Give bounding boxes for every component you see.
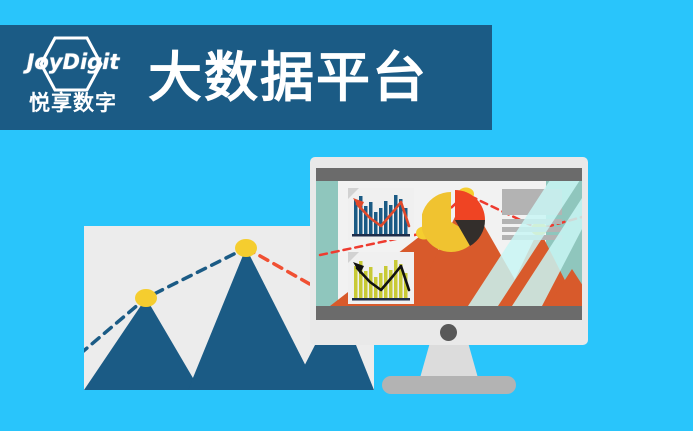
monitor-stand-base [382, 376, 516, 394]
card-fold-corner [348, 188, 359, 199]
monitor-stand-neck [420, 345, 478, 378]
brand-subtitle: 悦享数字 [12, 87, 134, 117]
data-point-marker [135, 289, 157, 307]
header-banner: JoyDigit 悦享数字 大数据平台 [0, 25, 492, 130]
pie-slice-red [455, 190, 485, 220]
mountain-shape-center [188, 248, 318, 390]
text-line [502, 219, 562, 224]
mountain-shape-left [84, 298, 200, 390]
monitor-screen [316, 181, 582, 306]
power-button-icon[interactable] [440, 324, 457, 341]
brand-wordmark: JoyDigit [12, 50, 134, 74]
page-title: 大数据平台 [148, 51, 428, 105]
data-point-marker [235, 239, 257, 257]
text-line [502, 227, 562, 232]
monitor-bottom-bezel [316, 306, 582, 320]
monitor-top-bezel [316, 168, 582, 181]
pie-chart [422, 187, 488, 253]
card-fold-corner [348, 252, 359, 263]
thumbnail-block [502, 189, 562, 215]
bar-chart-card-olive [348, 252, 414, 304]
monitor-illustration [310, 157, 588, 391]
document-placeholder [502, 189, 562, 237]
text-line [502, 235, 562, 240]
bar-chart-card-blue [348, 188, 414, 240]
page-root: JoyDigit 悦享数字 大数据平台 [0, 0, 693, 431]
brand-logo: JoyDigit 悦享数字 [12, 30, 134, 126]
